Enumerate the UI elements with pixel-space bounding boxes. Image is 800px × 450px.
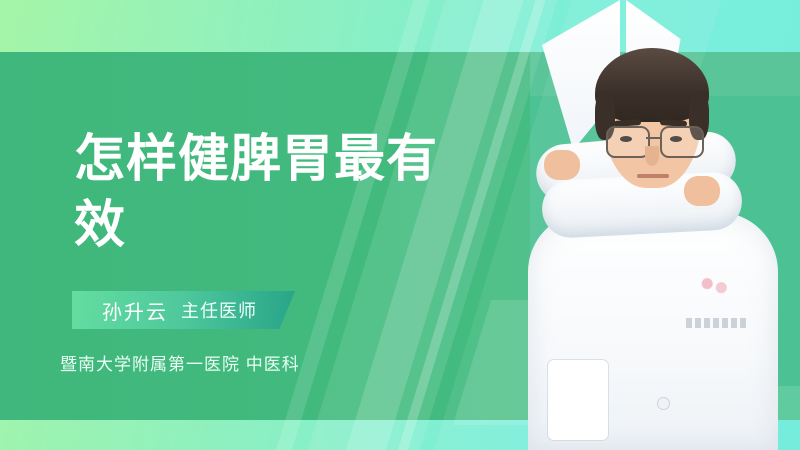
portrait-hand-right bbox=[684, 176, 720, 206]
glasses-lens-left bbox=[606, 126, 650, 158]
portrait-hand-left bbox=[544, 150, 580, 180]
doctor-affiliation: 暨南大学附属第一医院 中医科 bbox=[60, 350, 300, 375]
speaker-badge: 孙升云 主任医师 bbox=[72, 291, 295, 329]
portrait-coat-logo bbox=[694, 270, 738, 304]
doctor-professional-title: 主任医师 bbox=[181, 297, 257, 323]
portrait-nose bbox=[645, 146, 659, 166]
doctor-name: 孙升云 bbox=[102, 296, 168, 325]
portrait-coat-button bbox=[658, 398, 669, 409]
page-title: 怎样健脾胃最有 效 bbox=[74, 126, 474, 258]
glasses-lens-right bbox=[660, 126, 704, 158]
video-cover-card: 怎样健脾胃最有 效 孙升云 主任医师 暨南大学附属第一医院 中医科 bbox=[0, 0, 800, 450]
portrait-name-tag bbox=[686, 318, 746, 328]
doctor-portrait bbox=[498, 0, 800, 450]
portrait-coat-pocket bbox=[548, 360, 608, 440]
portrait-mouth bbox=[637, 174, 669, 178]
